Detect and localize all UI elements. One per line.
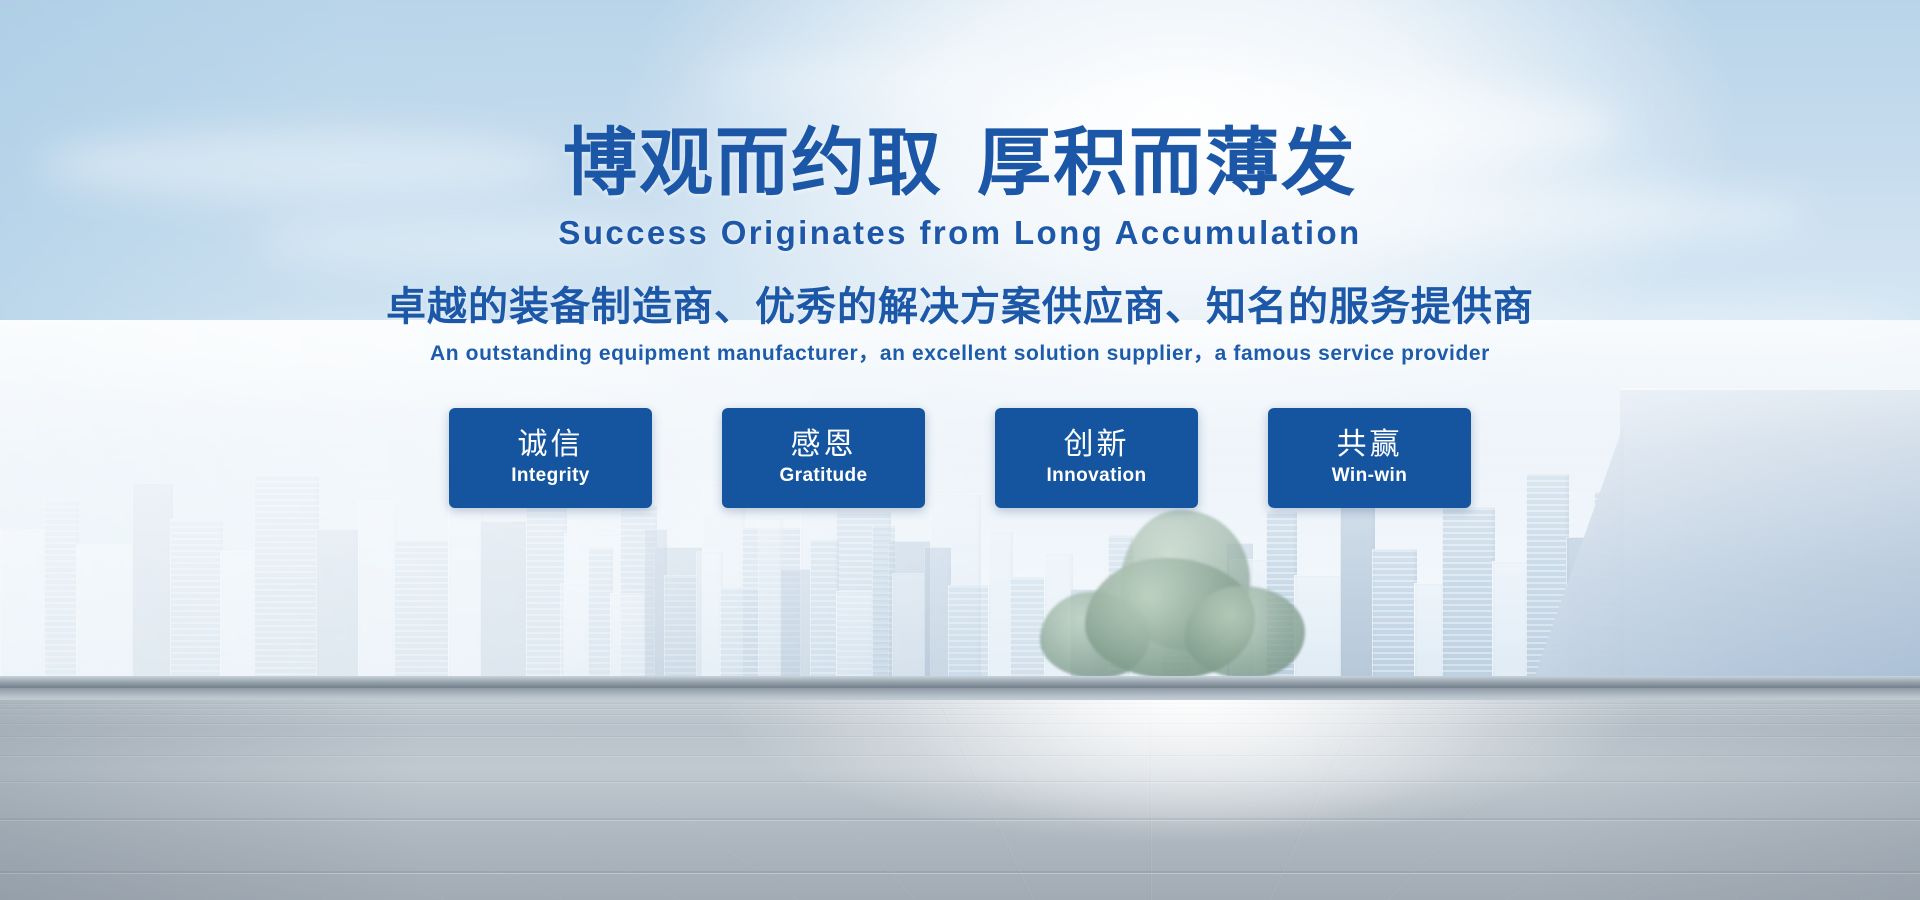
banner-content: 博观而约取厚积而薄发 Success Originates from Long …: [0, 0, 1920, 508]
skyline-building: [948, 585, 991, 680]
plaza-ground: [0, 700, 1920, 900]
value-label-en: Innovation: [1046, 464, 1146, 488]
value-label-cn: 感恩: [791, 428, 857, 462]
subtitle-chinese: 卓越的装备制造商、优秀的解决方案供应商、知名的服务提供商: [0, 287, 1920, 327]
skyline-building: [892, 573, 927, 680]
tile-seam-horizontal: [0, 723, 1920, 724]
headline-cn-part1: 博观而约取: [563, 121, 943, 204]
skyline-building: [220, 551, 257, 680]
value-card-win-win[interactable]: 共赢Win-win: [1268, 408, 1471, 508]
skyline-building: [610, 593, 647, 680]
skyline-building: [780, 569, 813, 680]
skyline-building: [1492, 561, 1529, 680]
value-card-gratitude[interactable]: 感恩Gratitude: [722, 408, 925, 508]
value-label-en: Integrity: [511, 464, 590, 488]
tile-seam-vertical: [0, 700, 207, 900]
tile-seam-vertical: [1858, 700, 1920, 900]
value-label-en: Gratitude: [779, 464, 867, 488]
tile-seam-vertical: [1150, 700, 1151, 900]
skyline-building: [1442, 507, 1495, 680]
value-label-en: Win-win: [1332, 464, 1407, 488]
skyline-building: [664, 575, 699, 680]
skyline-building: [1414, 583, 1445, 680]
tile-seam-vertical: [1740, 700, 1920, 900]
value-card-innovation[interactable]: 创新Innovation: [995, 408, 1198, 508]
core-values-row: 诚信Integrity感恩Gratitude创新Innovation共赢Win-…: [0, 408, 1920, 508]
skyline-building: [836, 591, 875, 680]
tile-seam-horizontal: [0, 708, 1920, 709]
headline-english: Success Originates from Long Accumulatio…: [0, 216, 1920, 249]
value-card-integrity[interactable]: 诚信Integrity: [449, 408, 652, 508]
skyline-building: [170, 519, 223, 680]
headline-cn-part2: 厚积而薄发: [977, 121, 1357, 204]
skyline-building: [924, 547, 951, 680]
skyline-building: [480, 521, 529, 680]
skyline-building: [560, 583, 591, 680]
tile-seam-vertical: [938, 700, 1034, 900]
skyline-building: [696, 551, 723, 680]
tile-seam-horizontal: [0, 871, 1920, 873]
skyline-building: [720, 587, 761, 680]
hero-banner: 博观而约取厚积而薄发 Success Originates from Long …: [0, 0, 1920, 900]
skyline-building: [810, 539, 839, 680]
skyline-building: [448, 489, 483, 680]
skyline-building: [76, 544, 135, 680]
skyline-building: [132, 483, 173, 680]
tree-foliage: [1185, 586, 1305, 678]
tile-seam-horizontal: [0, 755, 1920, 756]
tile-seam-horizontal: [0, 736, 1920, 737]
skyline-building: [394, 539, 451, 680]
tile-seam-vertical: [0, 700, 89, 900]
subtitle-english: An outstanding equipment manufacturer，an…: [0, 343, 1920, 364]
tile-seam-horizontal: [0, 818, 1920, 820]
tile-seam-vertical: [0, 700, 443, 900]
tile-seam-vertical: [1268, 700, 1364, 900]
skyline-building: [0, 529, 47, 680]
value-label-cn: 诚信: [518, 428, 584, 462]
tile-seam-horizontal: [0, 781, 1920, 782]
skyline-building: [44, 499, 79, 680]
plaza-tile-grid: [0, 700, 1920, 900]
tile-seam-vertical: [1622, 700, 1920, 900]
skyline-building: [316, 529, 361, 680]
tile-seam-horizontal: [0, 714, 1920, 715]
skyline-building: [1372, 549, 1417, 680]
page-title: 博观而约取厚积而薄发: [0, 126, 1920, 200]
skyline-building: [1340, 493, 1375, 680]
value-label-cn: 创新: [1064, 428, 1130, 462]
value-label-cn: 共赢: [1337, 428, 1403, 462]
tile-seam-horizontal: [0, 703, 1920, 704]
skyline-building: [358, 501, 397, 680]
